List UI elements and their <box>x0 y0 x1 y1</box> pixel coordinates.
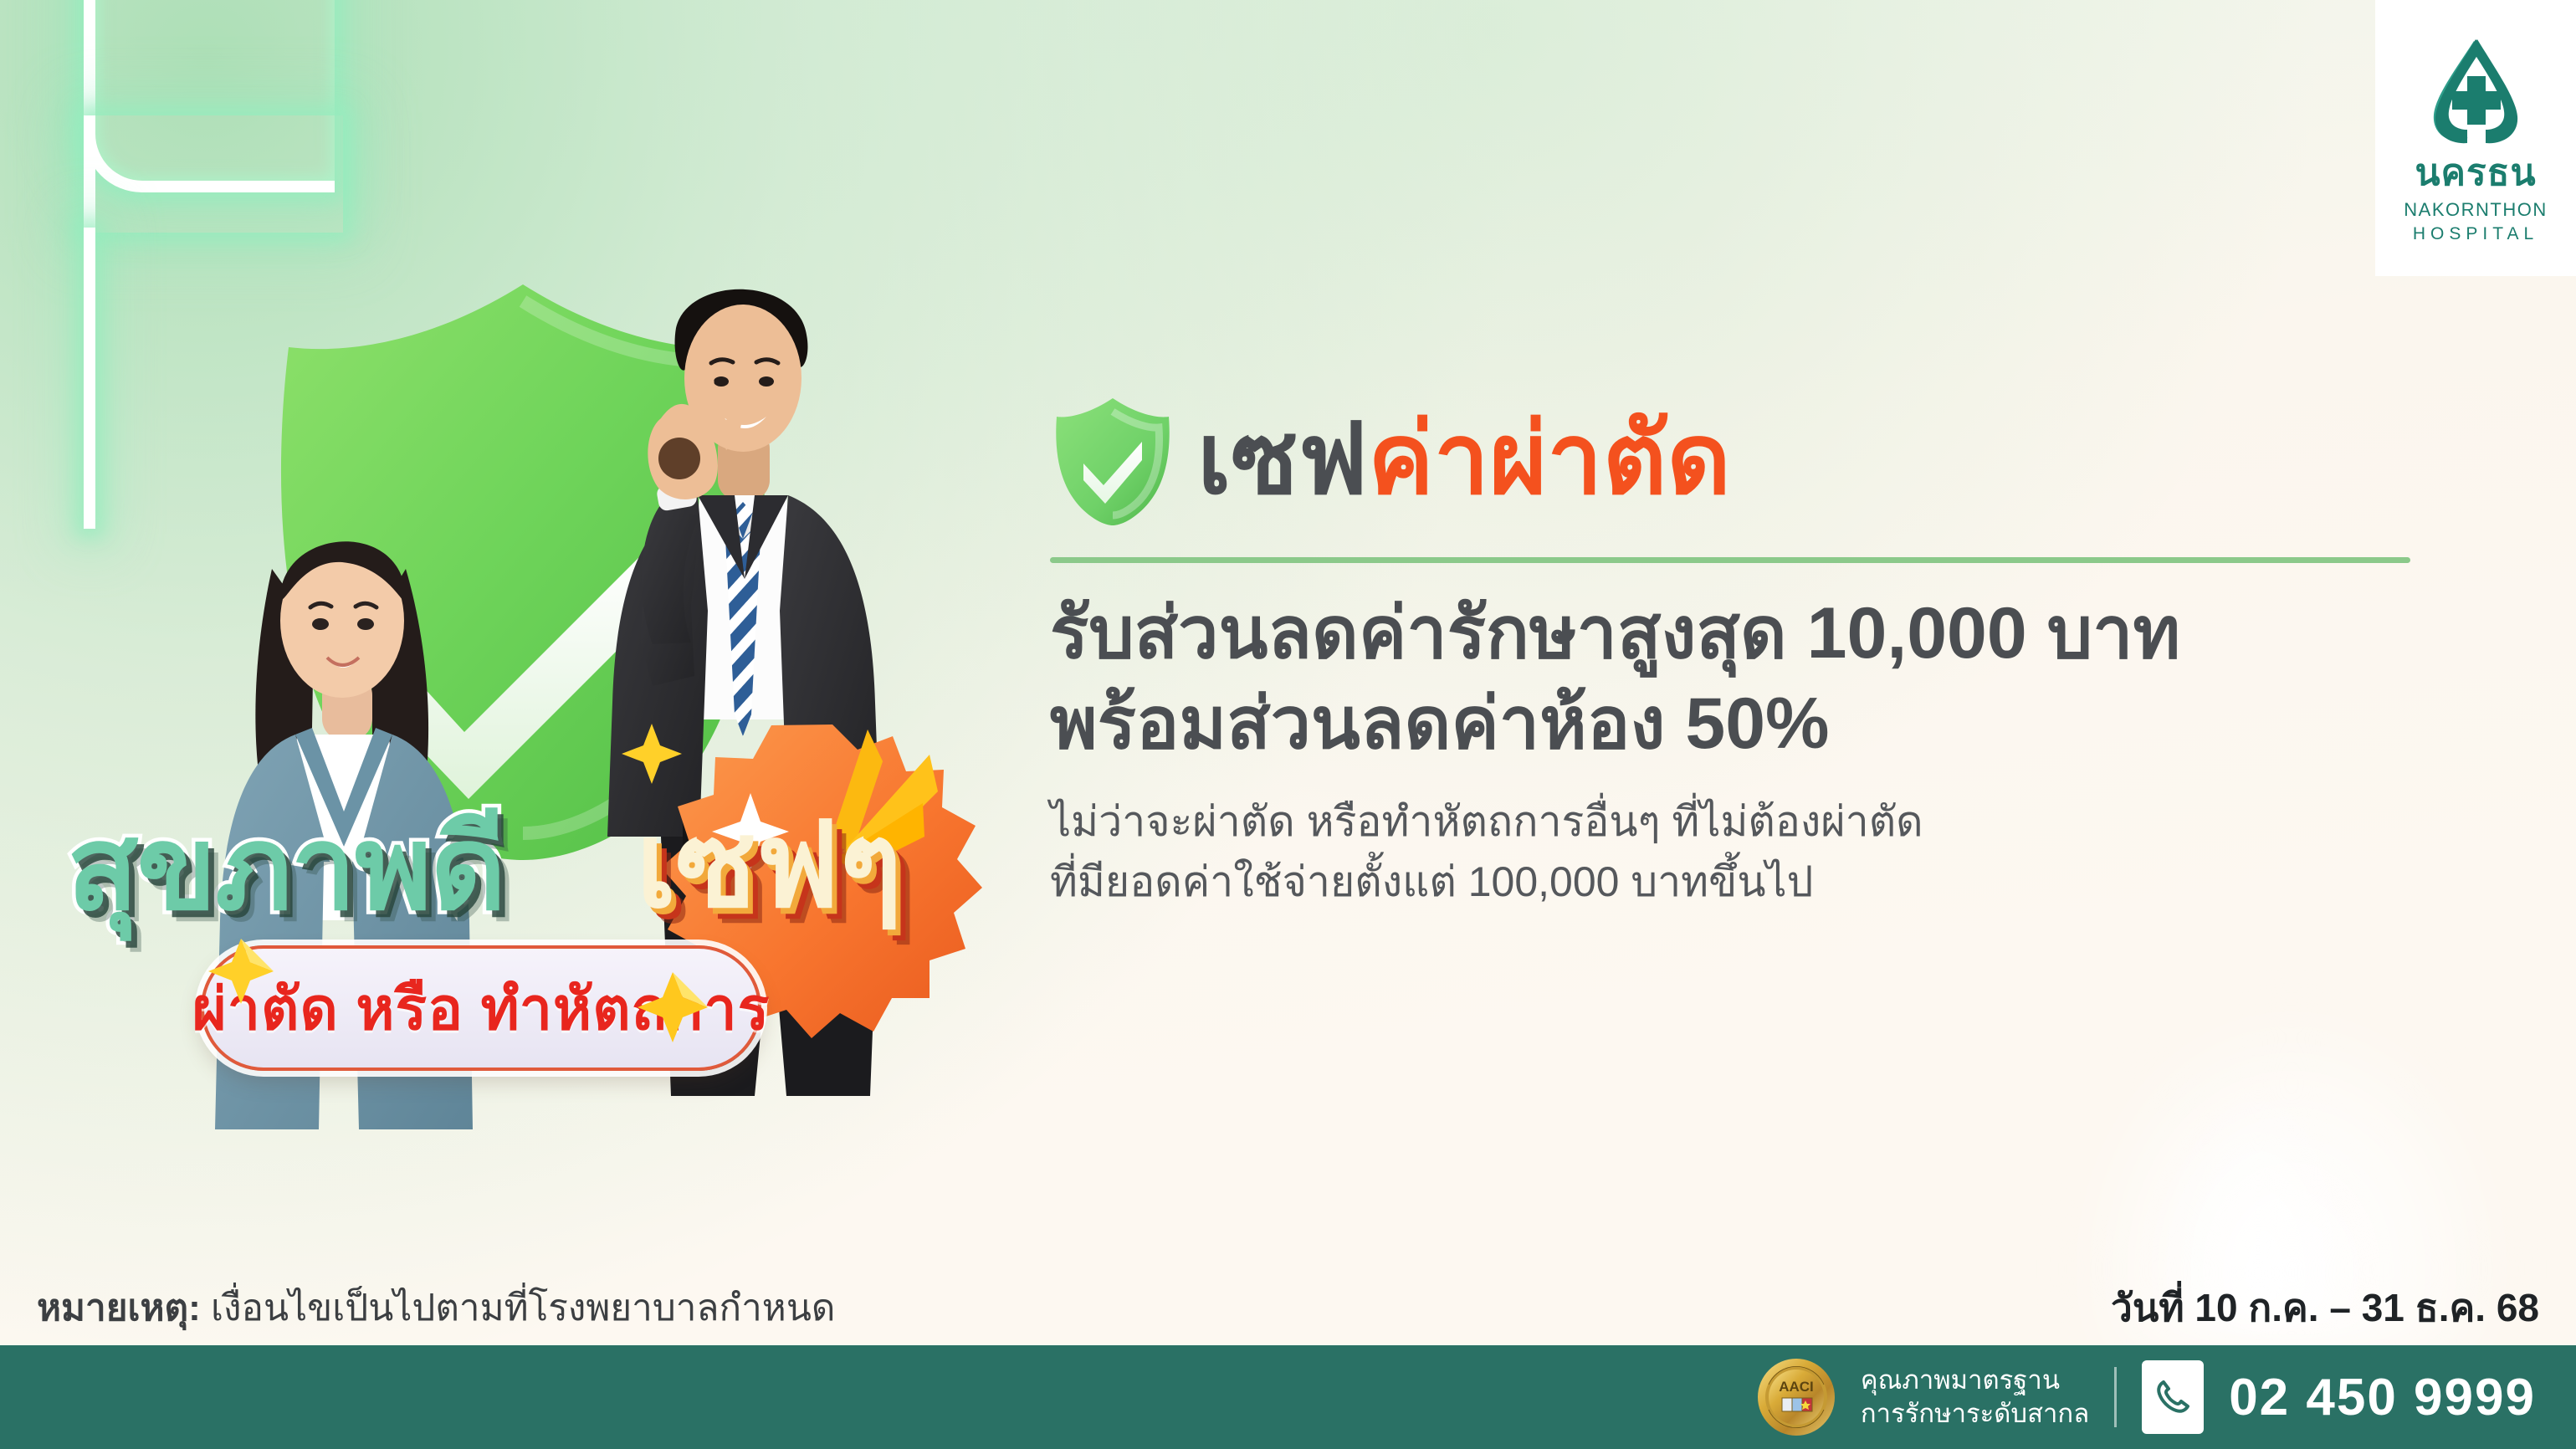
promo-sticker-badge: สุขภาพดี เซฟๆ ผ่าตัด หรือ ทำหัตถการ <box>33 736 1021 1104</box>
headline-part-orange: ค่าผ่าตัด <box>1368 404 1731 515</box>
headline-divider <box>1050 557 2410 563</box>
note-row: หมายเหตุ: เงื่อนไขเป็นไปตามที่โรงพยาบาลก… <box>0 1270 2576 1345</box>
sticker-headline: สุขภาพดี <box>67 810 504 927</box>
terms-note-label: หมายเหตุ: <box>37 1288 201 1329</box>
accreditation-line-1: คุณภาพมาตรฐาน <box>1861 1364 2089 1397</box>
contact-phone-number[interactable]: 02 450 9999 <box>2229 1368 2536 1427</box>
accreditation-text: คุณภาพมาตรฐาน การรักษาระดับสากล <box>1861 1364 2089 1431</box>
offer-lines: รับส่วนลดค่ารักษาสูงสุด 10,000 บาท พร้อม… <box>1050 588 2472 770</box>
headline-part-dark: เซฟ <box>1197 404 1368 515</box>
sparkle-gold-lower <box>634 969 711 1046</box>
page-title: เซฟค่าผ่าตัด <box>1197 408 1731 512</box>
terms-note: หมายเหตุ: เงื่อนไขเป็นไปตามที่โรงพยาบาลก… <box>37 1278 835 1337</box>
logo-subtitle: HOSPITAL <box>2413 223 2538 245</box>
fine-print-line-2: ที่มียอดค่าใช้จ่ายตั้งแต่ 100,000 บาทขึ้… <box>1050 852 2472 913</box>
fine-print-lines: ไม่ว่าจะผ่าตัด หรือทำหัตถการอื่นๆ ที่ไม่… <box>1050 791 2472 913</box>
offer-line-1: รับส่วนลดค่ารักษาสูงสุด 10,000 บาท <box>1050 588 2472 678</box>
logo-thai-name: นครธน <box>2415 155 2536 192</box>
offer-content: เซฟค่าผ่าตัด รับส่วนลดค่ารักษาสูงสุด 10,… <box>1050 393 2472 913</box>
accreditation-line-2: การรักษาระดับสากล <box>1861 1397 2089 1431</box>
sticker-word-health: สุขภาพดี <box>67 802 504 934</box>
aaci-accreditation-seal: AACI <box>1757 1358 1836 1436</box>
promotional-banner: สุขภาพดี เซฟๆ ผ่าตัด หรือ ทำหัตถการ <box>0 0 2576 1449</box>
fine-print-line-1: ไม่ว่าจะผ่าตัด หรือทำหัตถการอื่นๆ ที่ไม่… <box>1050 791 2472 853</box>
terms-note-text: เงื่อนไขเป็นไปตามที่โรงพยาบาลกำหนด <box>201 1288 836 1329</box>
nakornthon-droplet-cross-logo-icon <box>2417 36 2534 146</box>
logo-english-name: NAKORNTHON <box>2404 198 2547 222</box>
headline-row: เซฟค่าผ่าตัด <box>1050 393 2472 527</box>
sparkle-gold-left <box>205 935 277 1007</box>
promotion-date-range: วันที่ 10 ก.ค. – 31 ธ.ค. 68 <box>2111 1277 2539 1339</box>
svg-text:AACI: AACI <box>1779 1379 1814 1395</box>
phone-handset-icon[interactable] <box>2142 1360 2204 1434</box>
sparkle-gold-top <box>619 721 684 786</box>
footer-bar: AACI คุณภาพมาตรฐาน การรักษาระดับสากล 02 … <box>0 1345 2576 1449</box>
footer-separator <box>2114 1367 2117 1427</box>
offer-line-2: พร้อมส่วนลดค่าห้อง 50% <box>1050 678 2472 769</box>
hero-visual: สุขภาพดี เซฟๆ ผ่าตัด หรือ ทำหัตถการ <box>0 0 1029 1347</box>
shield-check-icon <box>1050 393 1175 527</box>
sticker-word-save: เซฟๆ <box>636 806 902 925</box>
hospital-logo: นครธน NAKORNTHON HOSPITAL <box>2375 0 2576 276</box>
